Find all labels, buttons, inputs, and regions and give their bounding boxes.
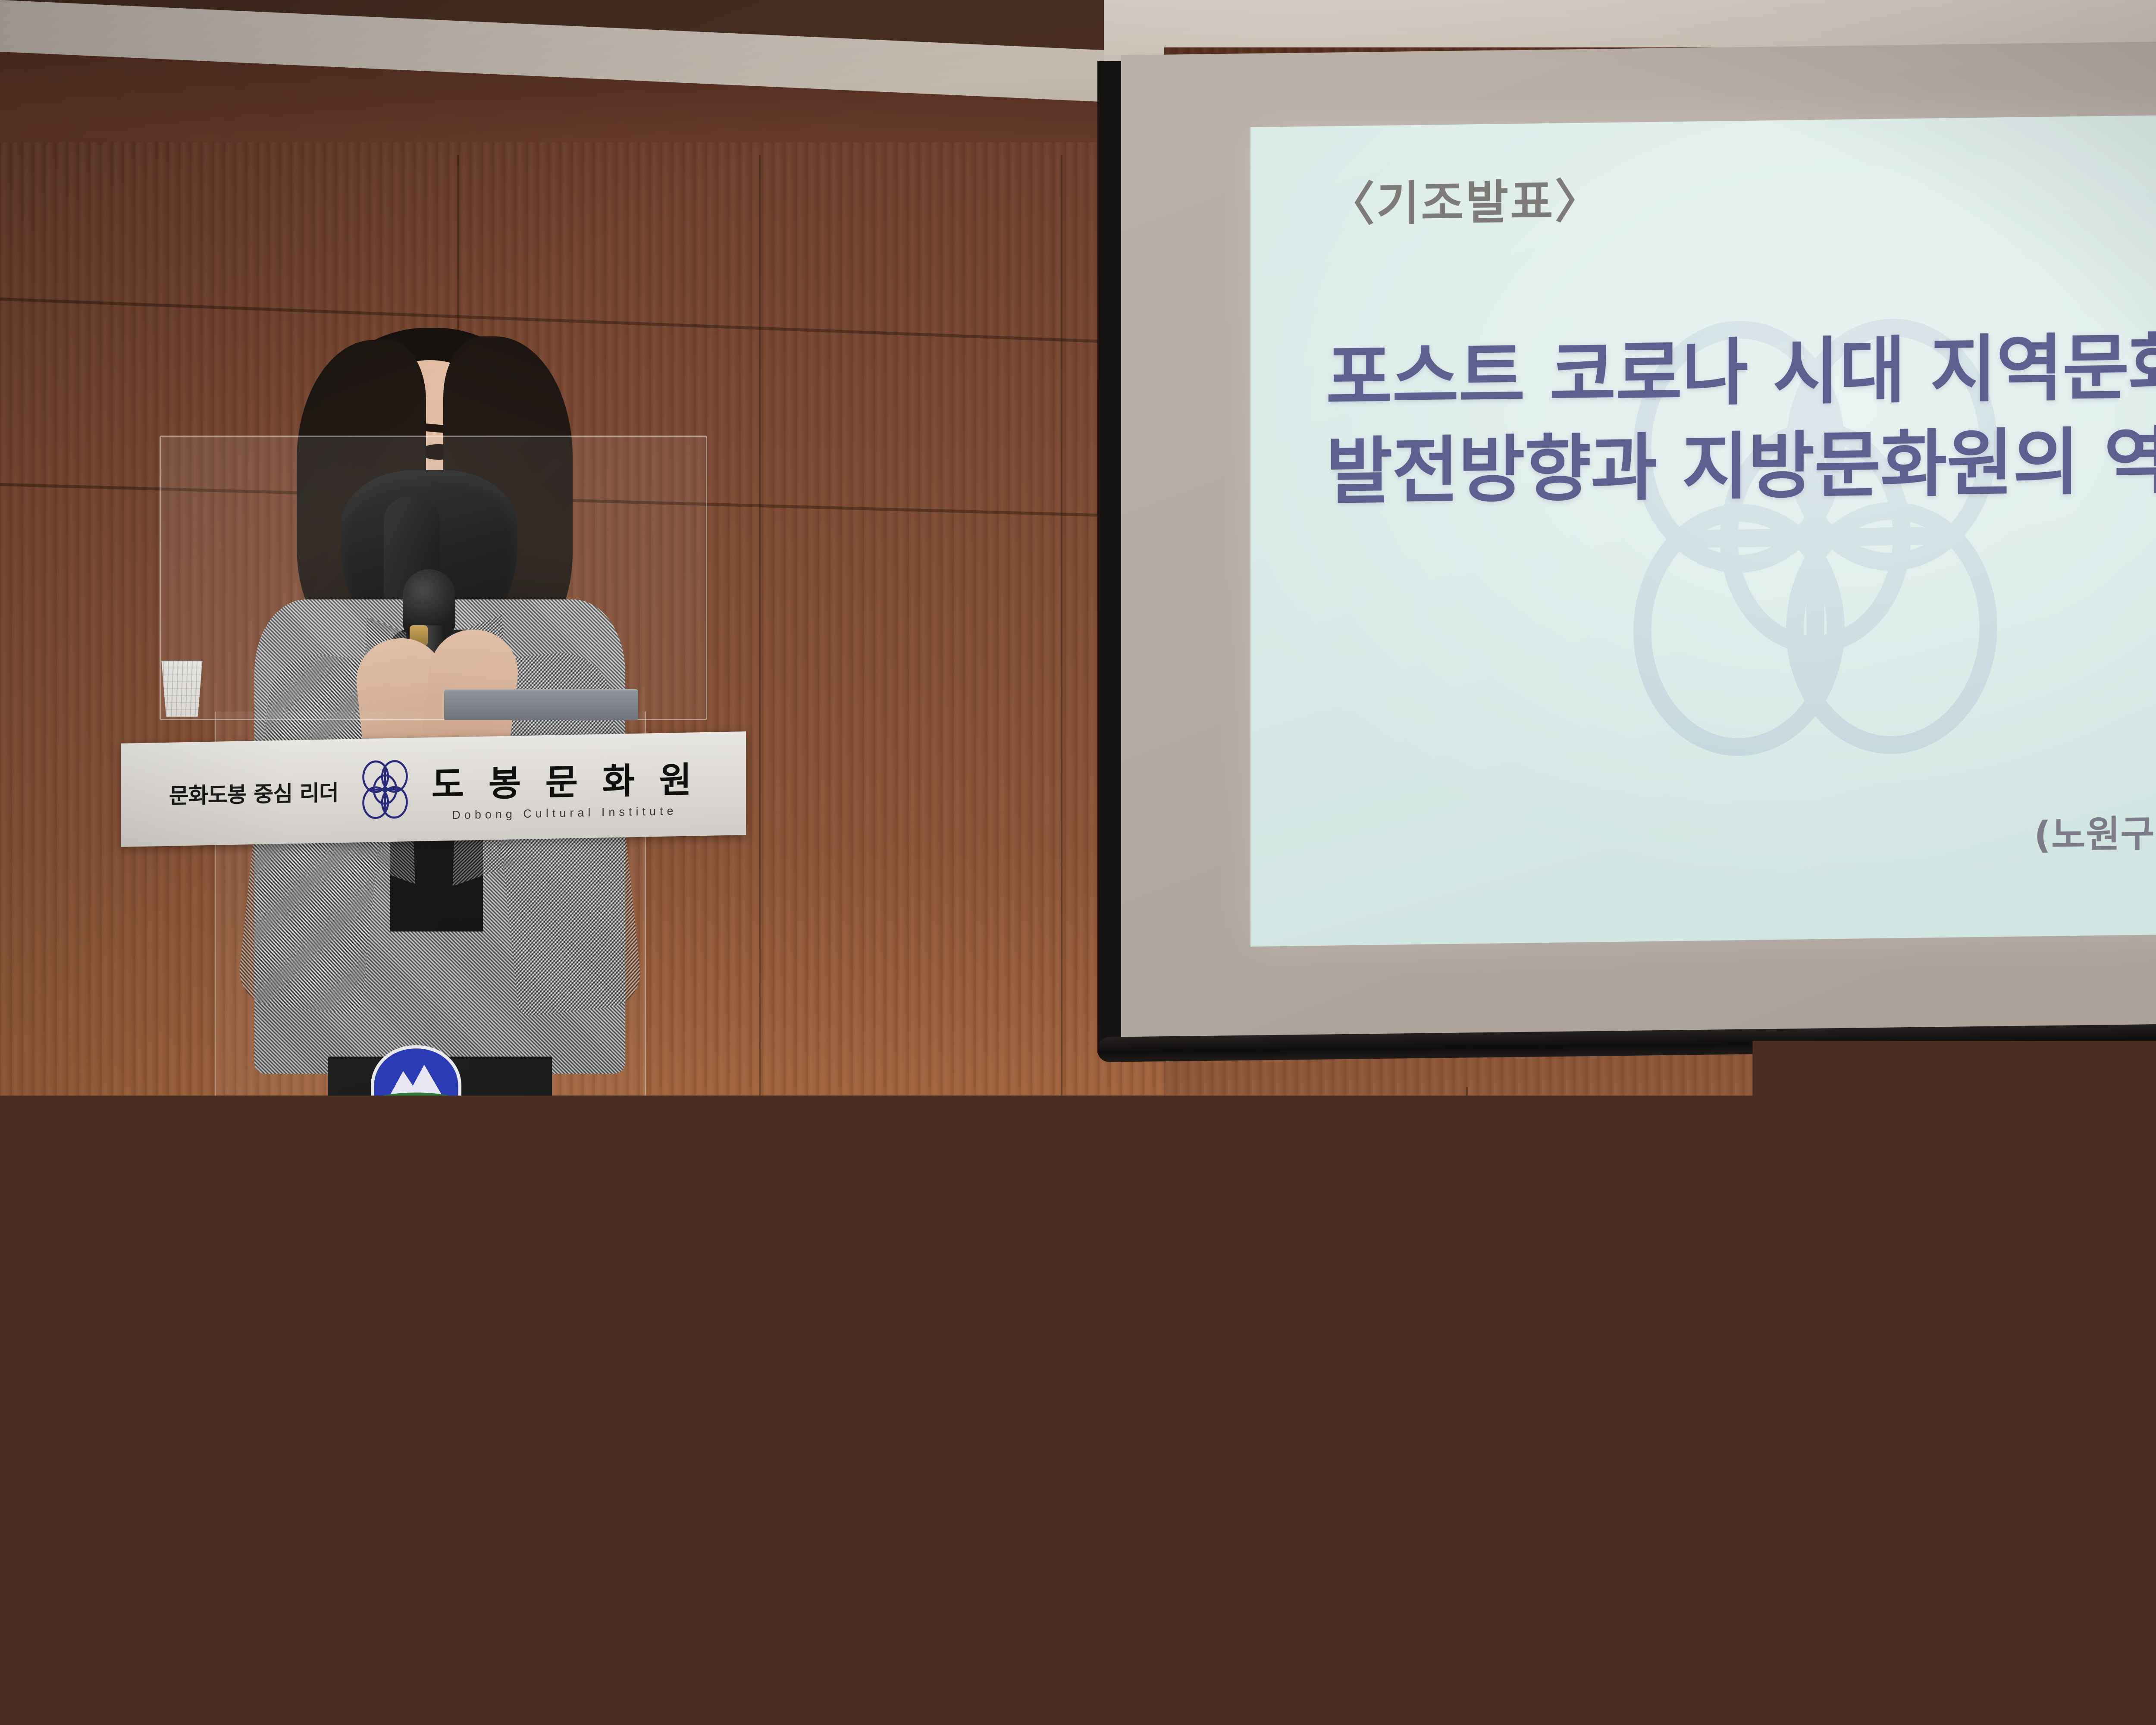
podium: 문화도봉 중심 리더 도 봉 문 화 원 Dobong Cultural Ins… xyxy=(142,436,729,1514)
cable-connector xyxy=(55,1427,82,1436)
paper-cup-pattern xyxy=(159,661,205,717)
screen-left-edge xyxy=(1097,61,1124,1053)
projection-screen: 〈기조발표〉 포스트 코로나 시대 지역문화의 발전방향과 지방문화원의 역할 … xyxy=(1097,52,2156,1069)
table-microphone-head xyxy=(1436,1492,1501,1583)
sign-institute-name: 도 봉 문 화 원 xyxy=(432,751,698,807)
slide-kicker: 〈기조발표〉 xyxy=(1328,163,1603,234)
wall-panel-divider-2 xyxy=(759,155,761,1475)
banner-text: 합학술회의 xyxy=(0,1621,285,1715)
slide-presenter-affiliation: (노원구의회 행정재경위원장) xyxy=(2034,799,2156,859)
wall-panel-divider-3 xyxy=(1061,155,1062,1475)
slide-title: 포스트 코로나 시대 지역문화의 발전방향과 지방문화원의 역할 xyxy=(1326,316,2156,519)
wall-panel-divider-5 xyxy=(1854,1087,1856,1475)
projected-slide: 〈기조발표〉 포스트 코로나 시대 지역문화의 발전방향과 지방문화원의 역할 … xyxy=(1250,110,2156,947)
podium-name-sign: 문화도봉 중심 리더 도 봉 문 화 원 Dobong Cultural Ins… xyxy=(121,731,746,847)
dobong-mountain-emblem-icon xyxy=(367,1044,466,1115)
slide-title-line-1: 포스트 코로나 시대 지역문화의 xyxy=(1326,316,2156,425)
coiled-xlr-cable xyxy=(9,1397,160,1468)
table-back-edge xyxy=(0,1496,2156,1500)
presentation-photo-scene: 〈기조발표〉 포스트 코로나 시대 지역문화의 발전방향과 지방문화원의 역할 … xyxy=(0,0,2156,1725)
blue-table-banner xyxy=(0,1565,2156,1725)
sign-tagline: 문화도봉 중심 리더 xyxy=(169,775,338,810)
slide-title-line-2: 발전방향과 지방문화원의 역할 xyxy=(1326,410,2156,520)
sign-institute-name-english: Dobong Cultural Institute xyxy=(452,804,677,822)
podium-acrylic-shield xyxy=(160,436,707,720)
laptop-on-podium xyxy=(444,689,638,720)
paper-cup xyxy=(159,661,205,717)
sign-main-block: 도 봉 문 화 원 Dobong Cultural Institute xyxy=(432,751,698,822)
foam-windscreen xyxy=(96,1397,137,1434)
wall-panel-divider-4 xyxy=(1466,1087,1468,1475)
dobong-institute-logo-icon xyxy=(355,757,415,823)
